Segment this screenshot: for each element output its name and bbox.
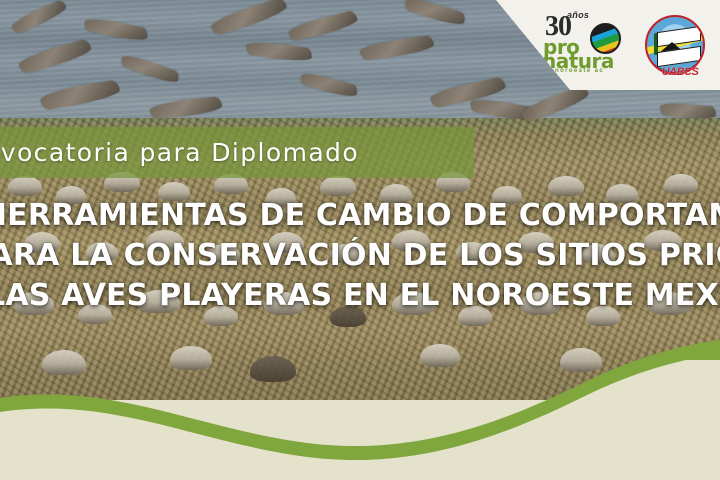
- bird-silhouette: [8, 176, 42, 196]
- bird-silhouette: [320, 176, 356, 196]
- cream-wave-panel: [0, 360, 720, 480]
- title-line-3: LAS AVES PLAYERAS EN EL NOROESTE MEXICAN…: [0, 276, 720, 316]
- bird-silhouette: [664, 174, 698, 194]
- poster-canvas: 30 años pro natura noroeste ac UABCS Con…: [0, 0, 720, 480]
- bird-silhouette: [548, 176, 584, 196]
- kicker-text: Convocatoria para Diplomado: [0, 138, 359, 167]
- uabcs-acronym-label: UABCS: [651, 66, 709, 78]
- poster-title: "HERRAMIENTAS DE CAMBIO DE COMPORTAMIENT…: [0, 196, 720, 316]
- pronatura-subtitle: noroeste ac: [555, 68, 604, 74]
- pronatura-anniversary-word: años: [567, 10, 589, 20]
- title-line-2: PARA LA CONSERVACIÓN DE LOS SITIOS PRIOR…: [0, 236, 720, 276]
- uabcs-logo[interactable]: UABCS: [645, 15, 705, 75]
- title-line-1: "HERRAMIENTAS DE CAMBIO DE COMPORTAMIENT…: [0, 196, 720, 236]
- pronatura-logo[interactable]: 30 años pro natura noroeste ac: [541, 11, 627, 79]
- kicker-banner: Convocatoria para Diplomado: [0, 127, 474, 178]
